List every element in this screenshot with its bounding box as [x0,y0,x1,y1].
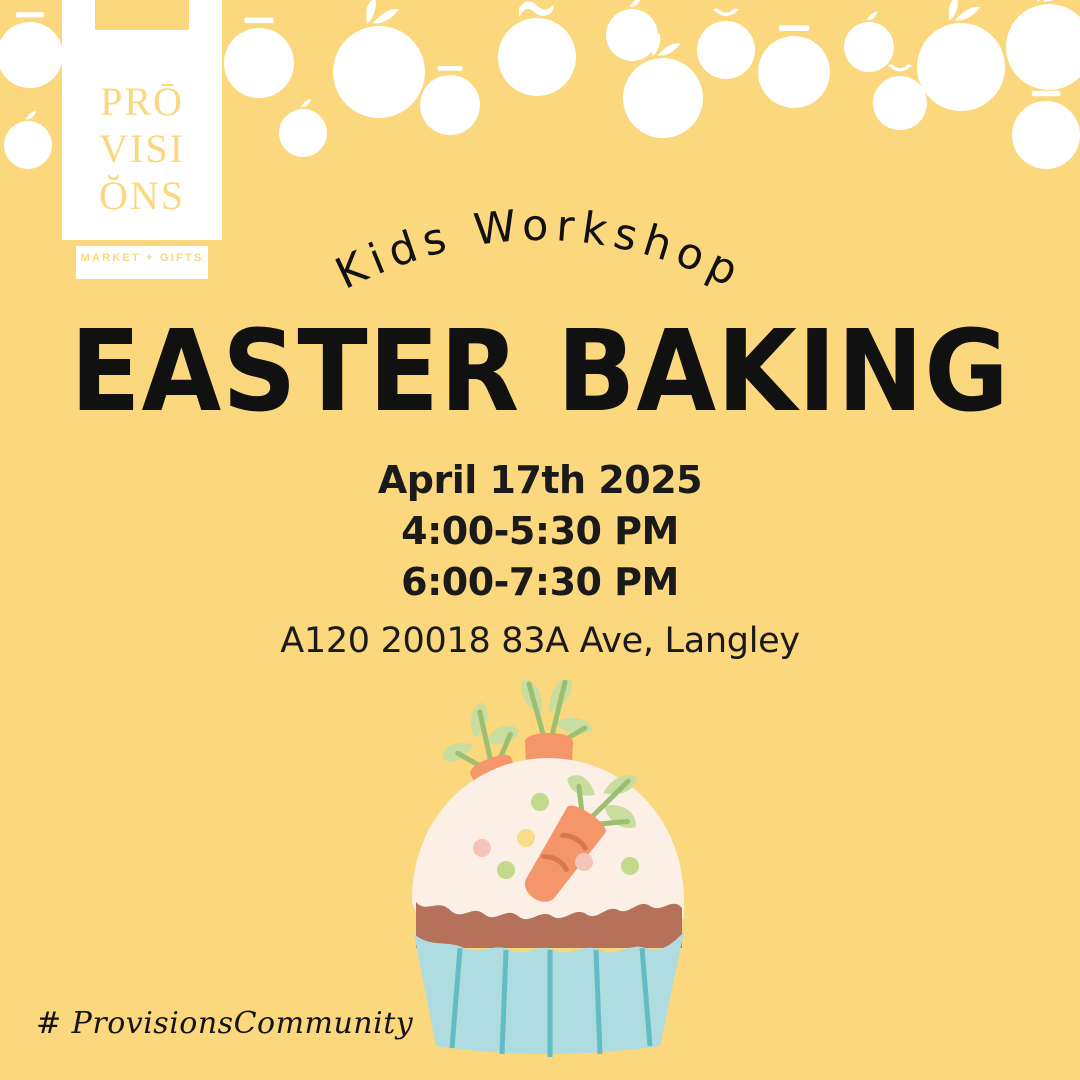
fruit-accent-macron [16,12,44,17]
fruit-shape [0,12,63,88]
logo-line-2: VISI [62,129,222,169]
fruit-accent-macron [779,25,809,31]
logo-line-3: ŎNS [62,176,222,216]
fruit-accent-sprig [1037,0,1068,2]
fruit-shape [758,25,830,108]
fruit-accent-tilde [519,1,554,17]
event-date: April 17th 2025 [0,455,1080,506]
eyebrow-label: Kids Workshop [328,201,752,300]
sprinkle-dot [531,793,549,811]
fruit-accent-sprig [949,0,981,21]
poster-canvas: PRŌ VISI ŎNS MARKET + GIFTS Kids Worksho… [0,0,1080,1080]
fruit-shape [623,33,703,138]
carrot-cupcake-illustration [388,680,708,1060]
fruit-accent-acute [629,0,640,7]
fruit-accent-macron [437,66,462,71]
logo-line-1: PRŌ [62,82,222,122]
fruit-accent-sprig [652,33,681,56]
fruit-accent-breve [713,8,740,16]
fruit-accent-macron [244,18,273,24]
fruit-accent-macron [1032,91,1061,96]
fruit-shape [873,64,927,130]
event-session-1: 4:00-5:30 PM [0,506,1080,557]
fruit-shape [844,12,894,72]
logo-tagline: MARKET + GIFTS [76,252,208,264]
event-details: April 17th 2025 4:00-5:30 PM 6:00-7:30 P… [0,455,1080,666]
fruit-shape [1012,91,1080,169]
sprinkle-dot [497,861,515,879]
fruit-accent-acute [867,12,878,20]
fruit-shape [697,8,755,79]
sprinkle-dot [621,857,639,875]
sprinkle-dot [473,839,491,857]
fruit-shape [279,99,327,157]
fruit-shape [224,18,294,99]
fruit-shape [1006,0,1080,90]
fruit-accent-acute [301,99,312,107]
fruit-accent-breve [888,64,913,71]
sprinkle-dot [517,829,535,847]
hashtag-label: # ProvisionsCommunity [36,1006,413,1041]
event-session-2: 6:00-7:30 PM [0,557,1080,608]
event-address: A120 20018 83A Ave, Langley [0,616,1080,666]
cupcake-wrapper [414,932,684,1057]
fruit-shape [4,111,52,169]
fruit-accent-sprig [366,0,399,24]
sprinkle-dot [575,853,593,871]
fruit-shape [333,0,425,118]
fruit-shape [498,1,576,96]
fruit-shape [606,0,658,61]
provisions-logo: PRŌ VISI ŎNS MARKET + GIFTS [62,0,222,283]
fruit-shape [917,0,1005,111]
page-title: EASTER BAKING [43,316,1037,428]
fruit-shape [420,66,480,135]
fruit-accent-acute [26,111,37,119]
